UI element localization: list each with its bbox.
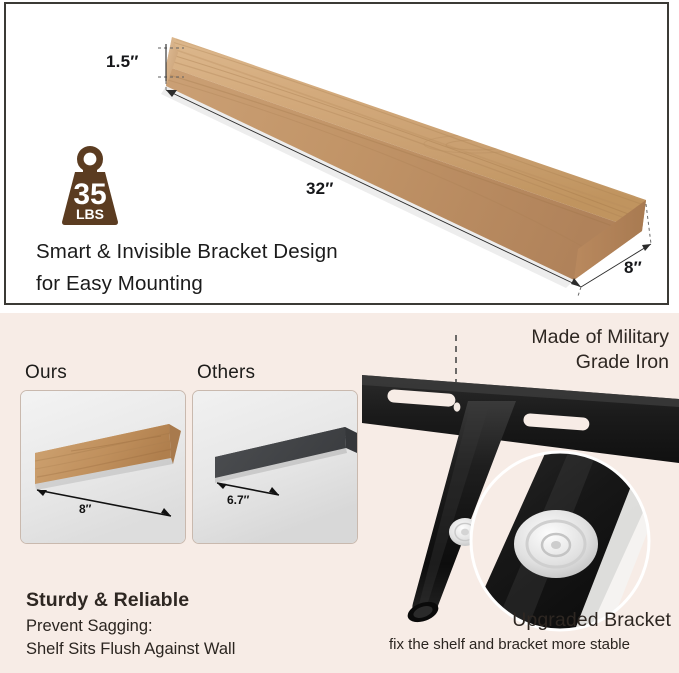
- ours-shelf-image: 8″: [21, 391, 185, 543]
- center-screw-hole: [454, 402, 461, 411]
- others-shelf-image: 6.7″: [193, 391, 357, 543]
- dimension-thickness-label: 1.5″: [106, 52, 139, 72]
- headline-line-2: for Easy Mounting: [36, 268, 436, 300]
- upgraded-bracket-subtitle: fix the shelf and bracket more stable: [340, 636, 679, 653]
- weight-badge-svg: 35 LBS: [50, 142, 130, 228]
- weight-unit: LBS: [76, 206, 104, 222]
- sturdy-reliable-title: Sturdy & Reliable: [26, 589, 189, 612]
- comparison-card-ours: 8″: [20, 390, 186, 544]
- ours-dimension-label: 8″: [79, 502, 92, 516]
- comparison-label-ours: Ours: [25, 362, 67, 384]
- sturdy-reliable-subtitle: Prevent Sagging: Shelf Sits Flush Agains…: [26, 615, 326, 661]
- comparison-label-others: Others: [197, 362, 255, 384]
- comparison-card-others: 6.7″: [192, 390, 358, 544]
- subtitle-line-1: Prevent Sagging:: [26, 615, 326, 638]
- page-title: Smart & Invisible Bracket Design for Eas…: [36, 236, 436, 300]
- headline-line-1: Smart & Invisible Bracket Design: [36, 236, 436, 268]
- material-line-2: Grade Iron: [369, 350, 669, 375]
- top-panel: 1.5″ 32″ 8″ 35 LBS Smart & Invisible Bra…: [4, 2, 669, 305]
- upgraded-bracket-title: Upgraded Bracket: [512, 609, 671, 632]
- product-infographic: 1.5″ 32″ 8″ 35 LBS Smart & Invisible Bra…: [0, 0, 679, 673]
- weight-icon: 35 LBS: [50, 142, 130, 228]
- dimension-depth-label: 8″: [624, 258, 642, 278]
- material-line-1: Made of Military: [369, 325, 669, 350]
- dimension-length-label: 32″: [306, 179, 334, 199]
- subtitle-line-2: Shelf Sits Flush Against Wall: [26, 638, 326, 661]
- others-dimension-label: 6.7″: [227, 493, 250, 507]
- material-label: Made of Military Grade Iron: [369, 325, 669, 375]
